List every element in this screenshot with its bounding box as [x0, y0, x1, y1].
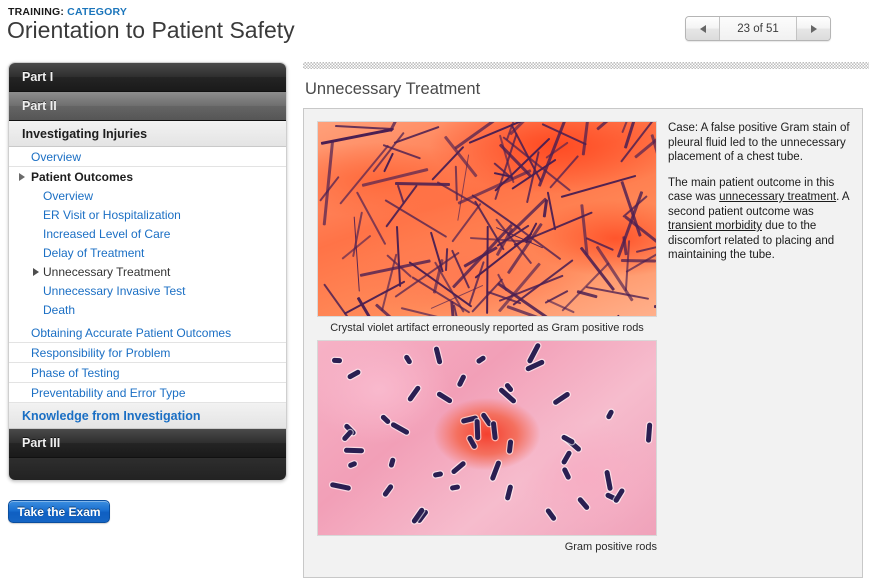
sidebar-item-label: Preventability and Error Type: [31, 386, 186, 400]
pagination-control: 23 of 51: [685, 16, 831, 41]
sidebar-item-outcomes-overview[interactable]: Overview: [9, 186, 286, 205]
sidebar-item-er-visit-or-hospitalization[interactable]: ER Visit or Hospitalization: [9, 205, 286, 224]
figure-caption: Gram positive rods: [317, 541, 657, 553]
sidebar-item-unnecessary-invasive-test[interactable]: Unnecessary Invasive Test: [9, 281, 286, 300]
crystal-violet-artifact-micrograph: [317, 121, 657, 317]
figure-crystal-violet-artifact: Crystal violet artifact erroneously repo…: [317, 121, 657, 334]
sidebar-item-label: Death: [43, 303, 75, 317]
sidebar-bottom-strip: [9, 458, 286, 480]
sidebar-item-label: Unnecessary Invasive Test: [43, 284, 186, 298]
sidebar-item-phase-of-testing[interactable]: Phase of Testing: [9, 363, 286, 383]
page-indicator: 23 of 51: [720, 17, 796, 40]
sidebar-item-label: Obtaining Accurate Patient Outcomes: [31, 326, 231, 340]
sidebar-section-knowledge-from-investigation[interactable]: Knowledge from Investigation: [9, 403, 286, 429]
sidebar-item-label: ER Visit or Hospitalization: [43, 208, 181, 222]
micrograph-canvas: [318, 122, 656, 316]
sidebar-item-preventability-and-error-type[interactable]: Preventability and Error Type: [9, 383, 286, 403]
sidebar-item-label: Phase of Testing: [31, 366, 120, 380]
triangle-right-icon: [33, 268, 39, 276]
case-paragraph-1: Case: A false positive Gram stain of ple…: [668, 121, 850, 165]
triangle-left-icon: [700, 25, 706, 33]
take-the-exam-button[interactable]: Take the Exam: [8, 500, 110, 523]
sidebar-item-overview[interactable]: Overview: [9, 147, 286, 167]
sidebar-item-label: Responsibility for Problem: [31, 346, 170, 360]
previous-page-button[interactable]: [686, 17, 720, 40]
sidebar-item-delay-of-treatment[interactable]: Delay of Treatment: [9, 243, 286, 262]
sidebar-item-label: Delay of Treatment: [43, 246, 144, 260]
sidebar-item-death[interactable]: Death: [9, 300, 286, 319]
case-paragraph-2: The main patient outcome in this case wa…: [668, 176, 850, 263]
triangle-right-icon: [811, 25, 817, 33]
next-page-button[interactable]: [796, 17, 830, 40]
figure-caption: Crystal violet artifact erroneously repo…: [317, 322, 657, 334]
sidebar-item-responsibility-for-problem[interactable]: Responsibility for Problem: [9, 343, 286, 363]
sidebar-item-label: Increased Level of Care: [43, 227, 170, 241]
triangle-right-icon: [19, 173, 25, 181]
sidebar-item-label: Overview: [31, 150, 81, 164]
sidebar-part-2[interactable]: Part II: [9, 92, 286, 121]
gram-positive-rods-micrograph: [317, 340, 657, 536]
page-header: TRAINING: CATEGORY Orientation to Patien…: [0, 0, 877, 56]
content-title: Unnecessary Treatment: [305, 80, 869, 99]
sidebar-part-3[interactable]: Part III: [9, 429, 286, 458]
figure-gram-positive-rods: Gram positive rods: [317, 340, 657, 553]
sidebar-item-obtaining-accurate-patient-outcomes[interactable]: Obtaining Accurate Patient Outcomes: [9, 323, 286, 343]
page-title: Orientation to Patient Safety: [7, 17, 295, 44]
course-navigation-sidebar: Part I Part II Investigating Injuries Ov…: [8, 62, 287, 481]
content-panel: Crystal violet artifact erroneously repo…: [303, 108, 863, 578]
sidebar-item-label: Patient Outcomes: [31, 170, 133, 184]
hatched-divider: [303, 62, 869, 69]
sidebar-item-increased-level-of-care[interactable]: Increased Level of Care: [9, 224, 286, 243]
sidebar-section-investigating-injuries[interactable]: Investigating Injuries: [9, 121, 286, 147]
sidebar-item-label: Unnecessary Treatment: [43, 265, 170, 279]
main-content: Unnecessary Treatment Crystal violet art…: [303, 62, 869, 578]
term-transient-morbidity[interactable]: transient morbidity: [668, 220, 762, 232]
sidebar-item-label: Overview: [43, 189, 93, 203]
sidebar-part-1[interactable]: Part I: [9, 63, 286, 92]
term-unnecessary-treatment[interactable]: unnecessary treatment: [719, 191, 836, 203]
sidebar-item-unnecessary-treatment[interactable]: Unnecessary Treatment: [9, 262, 286, 281]
micrograph-canvas: [318, 341, 656, 535]
case-description: Case: A false positive Gram stain of ple…: [668, 121, 850, 274]
sidebar-item-patient-outcomes[interactable]: Patient Outcomes: [9, 167, 286, 186]
